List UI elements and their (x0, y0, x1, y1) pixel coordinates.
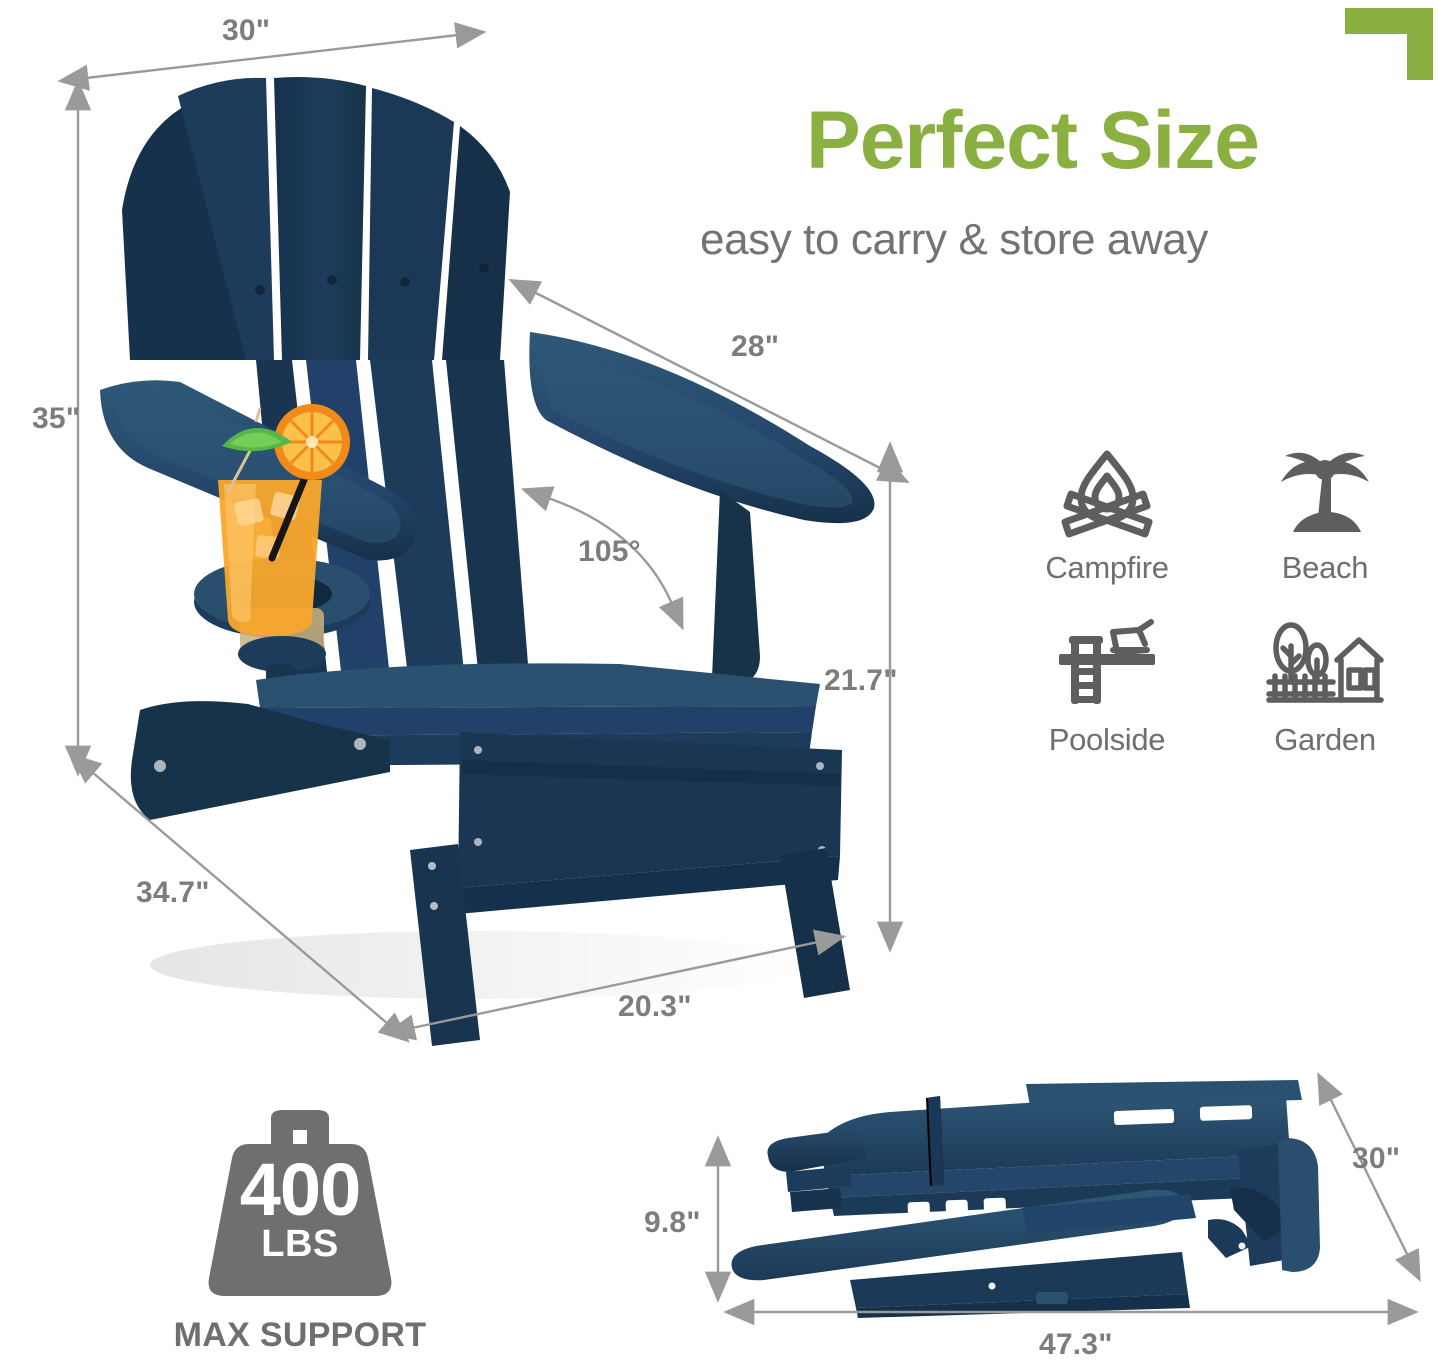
feature-label: Campfire (1045, 550, 1168, 586)
folded-dimension-lines (600, 1060, 1438, 1370)
feature-poolside: Poolside (1012, 620, 1202, 770)
dimension-label-seat-height: 21.7" (824, 666, 898, 696)
palm-tree-icon (1277, 448, 1373, 540)
dimension-label-width-top: 30" (222, 16, 270, 46)
pool-ladder-chair-icon (1055, 620, 1159, 712)
infographic-canvas: Perfect Size easy to carry & store away (0, 0, 1438, 1370)
dimension-label-folded-height: 30" (1352, 1144, 1400, 1174)
feature-grid: Campfire Beach (1012, 448, 1420, 770)
dimension-label-recline-angle: 105° (578, 537, 641, 567)
feature-label: Beach (1282, 550, 1368, 586)
max-support-unit: LBS (175, 1225, 425, 1263)
max-support-badge: 400 LBS MAX SUPPORT (150, 1110, 450, 1355)
feature-label: Poolside (1049, 722, 1166, 758)
max-support-caption: MAX SUPPORT (174, 1316, 427, 1355)
dimension-label-folded-thickness: 9.8" (644, 1208, 701, 1238)
dimension-label-overall-depth: 34.7" (136, 878, 210, 908)
corner-bracket-icon (1345, 8, 1433, 80)
feature-garden: Garden (1230, 620, 1420, 770)
feature-label: Garden (1274, 722, 1376, 758)
dimension-label-folded-length: 47.3" (1039, 1330, 1113, 1360)
feature-campfire: Campfire (1012, 448, 1202, 598)
dimension-label-height-back: 35" (32, 404, 80, 434)
garden-house-icon (1267, 620, 1383, 712)
feature-beach: Beach (1230, 448, 1420, 598)
dimension-label-seat-width: 20.3" (618, 992, 692, 1022)
campfire-icon (1059, 448, 1155, 540)
max-support-value: 400 (175, 1154, 425, 1225)
dimension-label-arm-depth: 28" (731, 332, 779, 362)
